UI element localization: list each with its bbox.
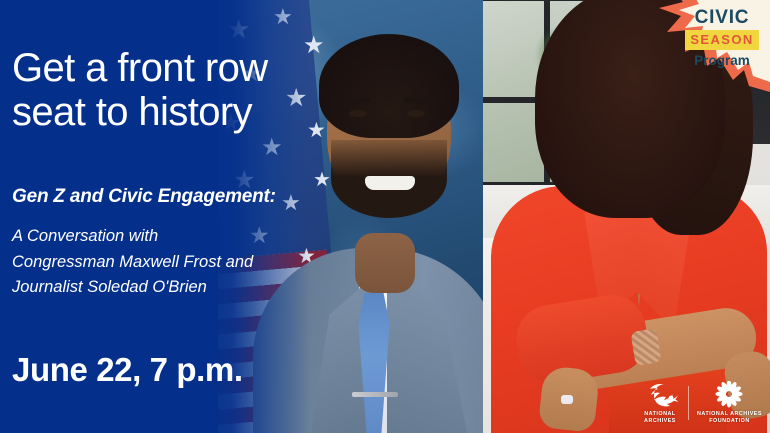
eye-right [407,110,425,117]
tie-bar [352,392,398,397]
logo-divider [688,386,689,420]
event-subtitle: Gen Z and Civic Engagement: [12,186,312,208]
eagle-icon [640,381,680,409]
badge-text: CIVIC SEASON Program [680,8,764,68]
national-archives-foundation-logo: NATIONAL ARCHIVES FOUNDATION [697,381,762,425]
flag-star-icon: ★ [313,170,331,190]
description-line: Congressman Maxwell Frost and [12,250,312,276]
eye-left [349,110,367,117]
badge-season-label: SEASON [685,30,758,50]
ring [561,395,573,404]
headline: Get a front row seat to history [12,46,312,134]
national-archives-logo: NATIONAL ARCHIVES [640,381,680,425]
neck [355,233,415,293]
logo-caption-line: ARCHIVES [644,418,676,425]
event-description: A Conversation with Congressman Maxwell … [12,224,312,301]
logo-caption: NATIONAL ARCHIVES FOUNDATION [697,411,762,425]
bracelet [631,328,662,366]
badge-program-label: Program [680,54,764,68]
logo-caption-line: FOUNDATION [697,418,762,425]
hair [319,34,459,138]
badge-civic-label: CIVIC [680,8,764,27]
logo-lockup: NATIONAL ARCHIVES [640,379,762,427]
promo-poster: ★ ★ ★ ★ ★ ★ ★ ★ ★ ★ ★ ★ ★ [0,0,770,433]
smile [365,176,415,190]
starburst-icon [712,381,746,409]
logo-caption: NATIONAL ARCHIVES [644,411,676,425]
event-datetime: June 22, 7 p.m. [12,351,332,389]
logo-caption-line: NATIONAL [644,411,676,418]
civic-season-badge: CIVIC SEASON Program [645,0,770,92]
logo-caption-line: NATIONAL ARCHIVES [697,411,762,418]
description-line: A Conversation with [12,224,312,250]
description-line: Journalist Soledad O'Brien [12,275,312,301]
